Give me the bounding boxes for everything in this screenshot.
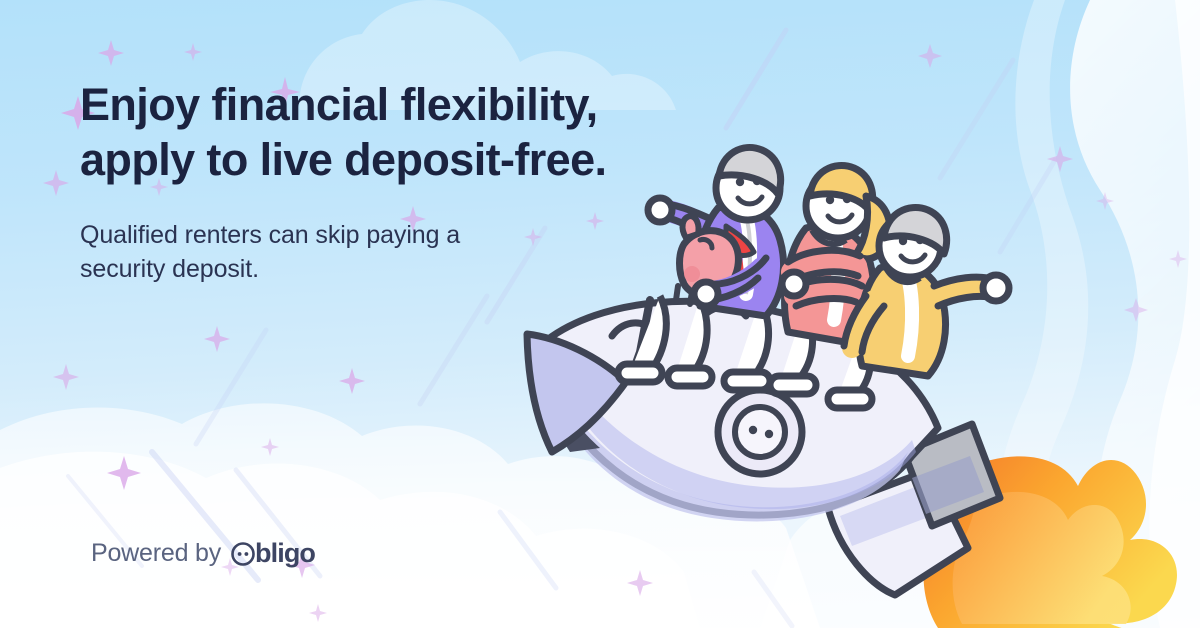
rocket-porthole — [718, 390, 802, 474]
copy-block: Enjoy financial flexibility, apply to li… — [80, 78, 680, 287]
subheadline: Qualified renters can skip paying a secu… — [80, 218, 680, 287]
banner-canvas: Enjoy financial flexibility, apply to li… — [0, 0, 1200, 628]
obligo-mark-icon — [230, 541, 256, 567]
powered-by-block: Powered by bligo — [91, 538, 315, 569]
obligo-wordmark: bligo — [255, 538, 315, 569]
page-title: Enjoy financial flexibility, apply to li… — [80, 78, 680, 188]
obligo-logo: bligo — [230, 538, 315, 569]
powered-by-label: Powered by — [91, 539, 221, 568]
